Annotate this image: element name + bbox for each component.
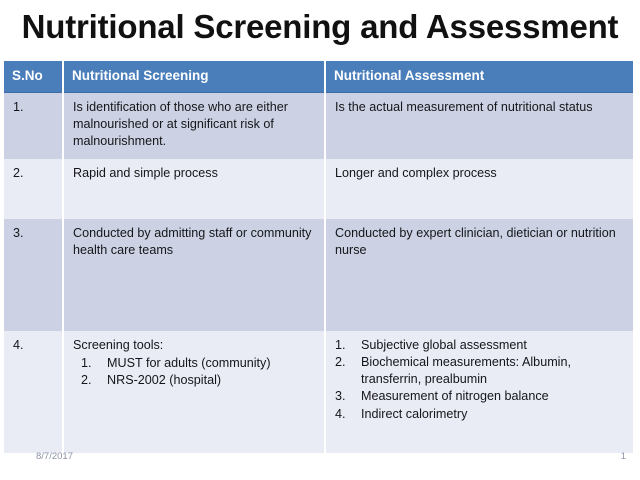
cell-sno: 3. [4,219,63,331]
cell-assessment: 1. Subjective global assessment 2. Bioch… [325,331,633,453]
cell-screening: Conducted by admitting staff or communit… [63,219,325,331]
cell-screening: Is identification of those who are eithe… [63,93,325,160]
table-row: 4. Screening tools: 1. MUST for adults (… [4,331,633,453]
list-item-number: 2. [335,354,353,371]
comparison-table-wrapper: S.No Nutritional Screening Nutritional A… [4,61,633,453]
cell-screening: Screening tools: 1. MUST for adults (com… [63,331,325,453]
cell-assessment: Is the actual measurement of nutritional… [325,93,633,160]
cell-assessment: Conducted by expert clinician, dietician… [325,219,633,331]
list-item-label: Subjective global assessment [361,338,527,352]
column-header-sno: S.No [4,61,63,93]
table-header-row: S.No Nutritional Screening Nutritional A… [4,61,633,93]
table-body: 1. Is identification of those who are ei… [4,93,633,454]
screening-tools-list: 1. MUST for adults (community) 2. NRS-20… [81,355,315,389]
list-item-label: Measurement of nitrogen balance [361,389,549,403]
screening-tools-label: Screening tools: [73,337,315,354]
list-item-number: 4. [335,406,353,423]
table-header: S.No Nutritional Screening Nutritional A… [4,61,633,93]
column-header-screening: Nutritional Screening [63,61,325,93]
list-item: 1. MUST for adults (community) [81,355,315,372]
list-item-label: Indirect calorimetry [361,407,467,421]
table-row: 3. Conducted by admitting staff or commu… [4,219,633,331]
table-row: 2. Rapid and simple process Longer and c… [4,159,633,219]
slide: Nutritional Screening and Assessment S.N… [0,0,640,480]
list-item: 3. Measurement of nitrogen balance [335,388,624,405]
cell-sno: 2. [4,159,63,219]
column-header-assessment: Nutritional Assessment [325,61,633,93]
list-item: 2. NRS-2002 (hospital) [81,372,315,389]
cell-screening: Rapid and simple process [63,159,325,219]
list-item-number: 3. [335,388,353,405]
footer-page-number: 1 [600,451,626,462]
footer-date: 8/7/2017 [36,451,73,462]
list-item-number: 2. [81,372,99,389]
cell-assessment: Longer and complex process [325,159,633,219]
list-item: 4. Indirect calorimetry [335,406,624,423]
comparison-table: S.No Nutritional Screening Nutritional A… [4,61,633,453]
list-item: 1. Subjective global assessment [335,337,624,354]
list-item-label: Biochemical measurements: Albumin, trans… [361,355,571,386]
list-item-label: NRS-2002 (hospital) [107,373,221,387]
cell-sno: 1. [4,93,63,160]
cell-sno: 4. [4,331,63,453]
page-title: Nutritional Screening and Assessment [0,8,640,46]
list-item-label: MUST for adults (community) [107,356,271,370]
list-item: 2. Biochemical measurements: Albumin, tr… [335,354,624,387]
list-item-number: 1. [335,337,353,354]
list-item-number: 1. [81,355,99,372]
table-row: 1. Is identification of those who are ei… [4,93,633,160]
assessment-methods-list: 1. Subjective global assessment 2. Bioch… [335,337,624,422]
